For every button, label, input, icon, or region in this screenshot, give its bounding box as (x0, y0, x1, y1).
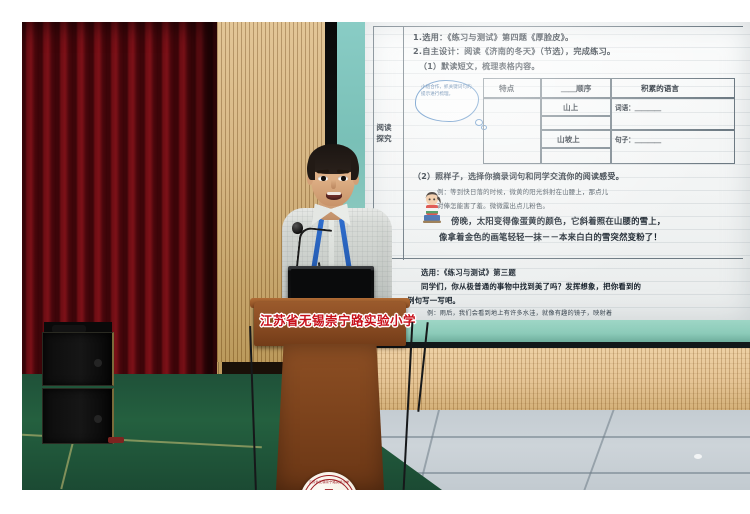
pupil-left (321, 176, 326, 181)
slide-rule-col (403, 26, 404, 260)
podium-banner-text: 江苏省无锡崇宁路实验小学 (260, 310, 400, 329)
speaker-cabinet-top (42, 332, 114, 386)
table-body-cell-1 (483, 98, 541, 164)
table-cell-shanshang: 山上 (563, 102, 578, 113)
table-header-1: 特点 (499, 83, 514, 94)
table-header-2: ＿＿顺序 (561, 83, 591, 94)
slide-heading-1: 1.选用：《练习与测试》第四题《厚脸皮》。 (413, 32, 573, 42)
cartoon-girl-icon (421, 192, 443, 224)
pupil-right (341, 176, 346, 181)
table-cell-shanpoushang: 山坡上 (557, 134, 580, 145)
slide-section3-prompt-2: 例句写一写吧。 (407, 296, 460, 305)
slide-section2-example-1: 例：等到快日落的时候，微黄的阳光斜射在山腰上，那点儿 (437, 188, 608, 196)
nose (331, 180, 336, 189)
slide-rule-top (373, 26, 743, 27)
tile-grout-5 (583, 410, 614, 490)
projected-slide: 1.选用：《练习与测试》第四题《厚脸皮》。 2.自主设计：阅读《济南的冬天》（节… (365, 22, 750, 320)
slide-section3-example-1: 例：雨后，我们会看到地上有许多水洼，就像有趣的镜子，映射着 (427, 310, 612, 318)
table-header-3: 积累的语言 (641, 83, 679, 94)
slide-section2-highlight-1: 傍晚，太阳变得像蛋黄的颜色，它斜着照在山腰的雪上， (451, 216, 665, 227)
slide-thought-bubble: 小组合作，抓关键词句的提示进行梳理。 (415, 80, 479, 122)
loudspeaker-stack (42, 332, 114, 444)
photo-border-top (0, 0, 750, 22)
slide-section2-example-2: 对俸怎能害了羞。微微露出点儿粉色。 (437, 202, 549, 210)
hair-side-left (307, 158, 315, 180)
speaker-driver-top (94, 359, 102, 367)
speaker-driver-bottom (94, 415, 102, 423)
photo-border-left (0, 0, 22, 514)
slide-section2-highlight-2: 像拿着金色的画笔轻轻一抹－－本来白白的雪突然变粉了！ (439, 232, 662, 243)
table-row-2-col-2 (541, 116, 611, 130)
slide-heading-3: （1）默读短文，梳理表格内容。 (419, 62, 540, 72)
speaker-cabinet-bottom (42, 388, 114, 444)
photo-border-bottom (0, 490, 750, 514)
teeth (327, 192, 341, 195)
emblem-arc-text: 江苏省无锡崇宁路实验小学 (300, 479, 358, 484)
slide-section3-source: 选用：《练习与测试》第三题 (421, 268, 516, 277)
school-emblem: 江苏省无锡崇宁路实验小学 鼎 Since 1919 (300, 472, 358, 490)
microphone-icon (292, 222, 303, 234)
floor-litter (694, 454, 702, 459)
table-row-4-col-2 (541, 148, 611, 164)
laptop-screen (291, 269, 371, 298)
photograph: 1.选用：《练习与测试》第四题《厚脸皮》。 2.自主设计：阅读《济南的冬天》（节… (22, 22, 750, 490)
slide-section3-prompt-1: 同学们，你从极普通的事物中找到美了吗？发挥想象，把你看到的 (421, 282, 641, 291)
photo-canvas: 1.选用：《练习与测试》第四题《厚脸皮》。 2.自主设计：阅读《济南的冬天》（节… (0, 0, 750, 514)
table-cell-ciyu: 词语：＿＿＿＿ (615, 102, 661, 112)
slide-rule-mid (373, 258, 743, 259)
hair-side-right (351, 158, 359, 180)
red-floor-object (108, 437, 124, 443)
speaking-podium: 江苏省无锡崇宁路实验小学 江苏省无锡崇宁路实验小学 鼎 Since 1919 (254, 272, 406, 490)
microphone-gooseneck (296, 226, 332, 269)
table-cell-juzi: 句子：＿＿＿＿ (615, 134, 661, 144)
slide-table: 特点 ＿＿顺序 积累的语言 山上 山坡上 词语：＿＿＿＿ 句子：＿＿＿＿ (483, 78, 735, 164)
projection-screen: 1.选用：《练习与测试》第四题《厚脸皮》。 2.自主设计：阅读《济南的冬天》（节… (365, 22, 750, 320)
podium-body: 江苏省无锡崇宁路实验小学 鼎 Since 1919 (276, 344, 384, 490)
slide-section2-prompt: （2）照样子，选择你摘录词句和同学交流你的阅读感受。 (413, 172, 624, 182)
slide-side-label-reading: 阅读探究 (371, 122, 397, 144)
slide-heading-2: 2.自主设计：阅读《济南的冬天》（节选），完成练习。 (413, 46, 615, 56)
slide-thought-bubble-text: 小组合作，抓关键词句的提示进行梳理。 (421, 85, 475, 99)
laptop-device[interactable] (288, 266, 374, 302)
